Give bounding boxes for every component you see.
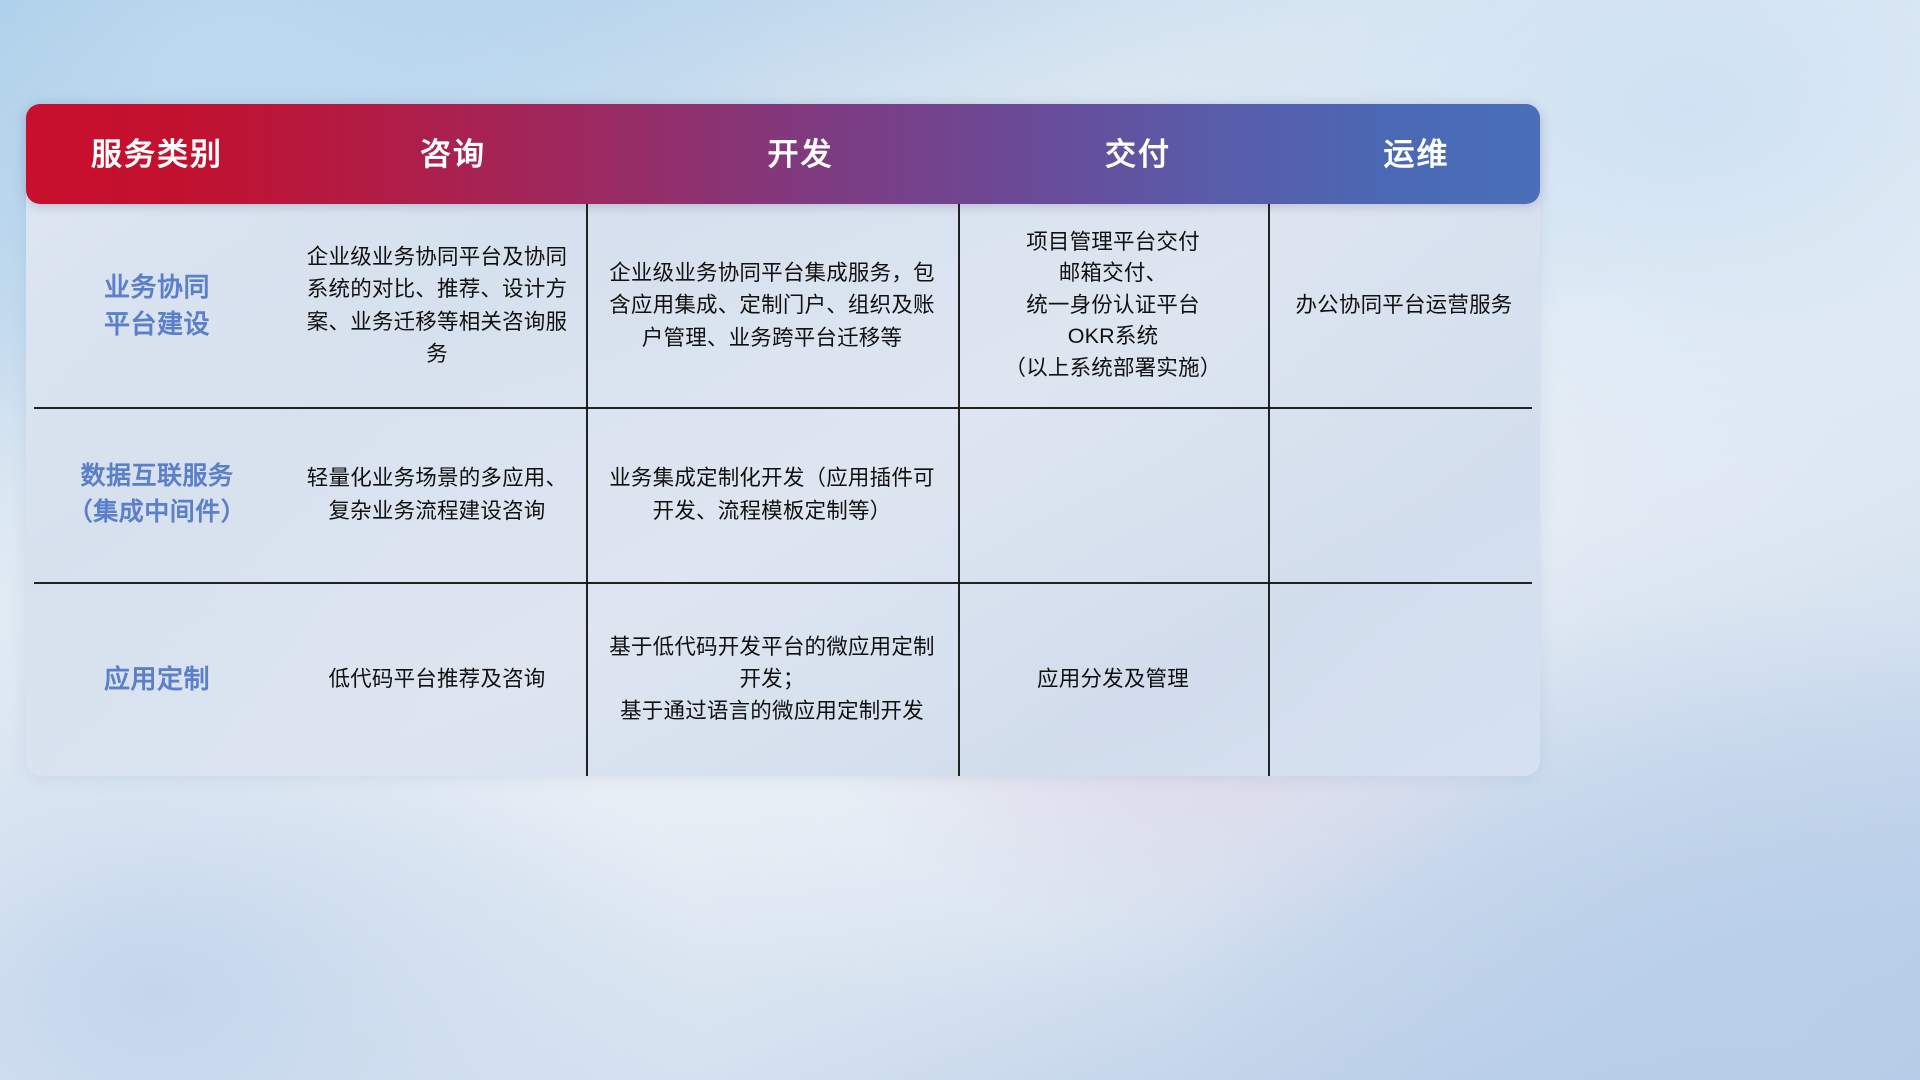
cell-development: 企业级业务协同平台集成服务，包含应用集成、定制门户、组织及账户管理、业务跨平台迁… xyxy=(586,204,958,407)
column-header-operations: 运维 xyxy=(1293,139,1540,170)
category-line: 数据互联服务 xyxy=(68,459,247,495)
category-line: 平台建设 xyxy=(104,306,210,343)
column-header-development: 开发 xyxy=(618,139,983,170)
row-category-label: 应用定制 xyxy=(26,582,288,776)
cell-consulting: 低代码平台推荐及咨询 xyxy=(288,582,586,776)
cell-consulting: 企业级业务协同平台及协同系统的对比、推荐、设计方案、业务迁移等相关咨询服务 xyxy=(288,204,586,407)
category-line: 应用定制 xyxy=(104,661,210,698)
table-row: 业务协同 平台建设 企业级业务协同平台及协同系统的对比、推荐、设计方案、业务迁移… xyxy=(26,204,1540,407)
category-line: （集成中间件） xyxy=(68,495,247,531)
cell-delivery: 应用分发及管理 xyxy=(958,582,1268,776)
column-header-consulting: 咨询 xyxy=(288,139,618,170)
cell-operations xyxy=(1268,582,1540,776)
cell-delivery xyxy=(958,407,1268,582)
table-row: 应用定制 低代码平台推荐及咨询 基于低代码开发平台的微应用定制开发； 基于通过语… xyxy=(26,582,1540,776)
cell-consulting: 轻量化业务场景的多应用、复杂业务流程建设咨询 xyxy=(288,407,586,582)
table-row: 数据互联服务 （集成中间件） 轻量化业务场景的多应用、复杂业务流程建设咨询 业务… xyxy=(26,407,1540,582)
category-line: 业务协同 xyxy=(104,269,210,306)
table-header-row: 服务类别 咨询 开发 交付 运维 xyxy=(26,104,1540,204)
table-body: 业务协同 平台建设 企业级业务协同平台及协同系统的对比、推荐、设计方案、业务迁移… xyxy=(26,204,1540,776)
row-category-label: 业务协同 平台建设 xyxy=(26,204,288,407)
cell-development: 基于低代码开发平台的微应用定制开发； 基于通过语言的微应用定制开发 xyxy=(586,582,958,776)
row-category-label: 数据互联服务 （集成中间件） xyxy=(26,407,288,582)
cell-delivery: 项目管理平台交付 邮箱交付、 统一身份认证平台 OKR系统 （以上系统部署实施） xyxy=(958,204,1268,407)
cell-development: 业务集成定制化开发（应用插件可开发、流程模板定制等） xyxy=(586,407,958,582)
column-header-delivery: 交付 xyxy=(983,139,1293,170)
cell-operations: 办公协同平台运营服务 xyxy=(1268,204,1540,407)
cell-operations xyxy=(1268,407,1540,582)
column-header-service-category: 服务类别 xyxy=(26,139,288,170)
